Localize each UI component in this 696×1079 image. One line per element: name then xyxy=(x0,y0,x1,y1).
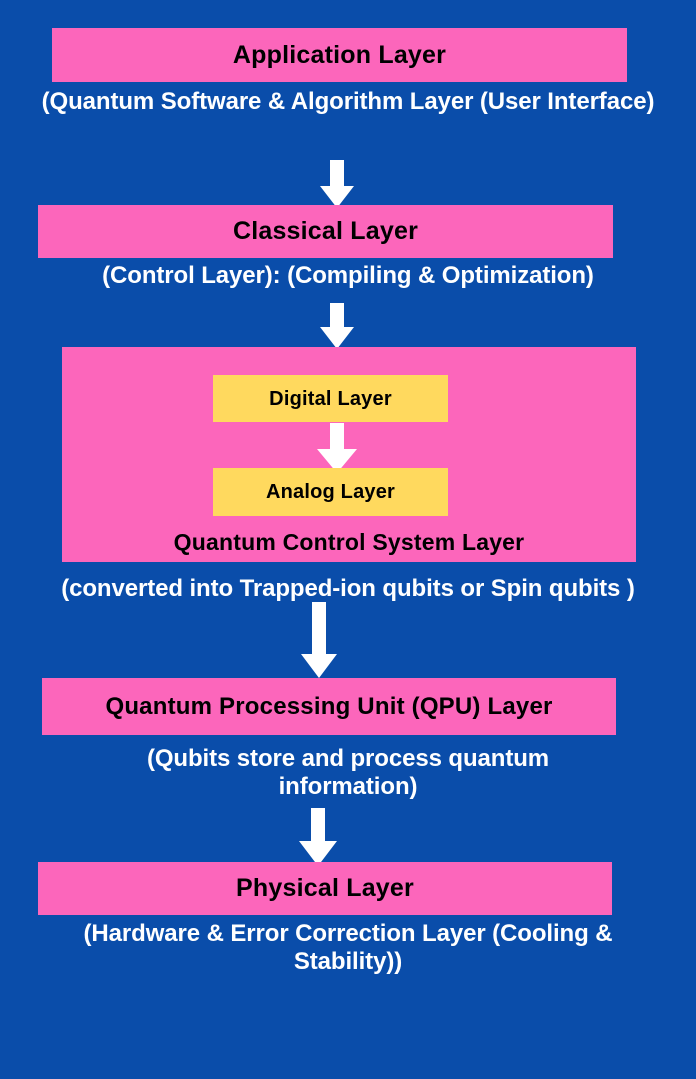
application-layer-caption: (Quantum Software & Algorithm Layer (Use… xyxy=(34,88,662,116)
physical-layer-caption: (Hardware & Error Correction Layer (Cool… xyxy=(54,920,642,977)
analog-layer-title: Analog Layer xyxy=(266,482,395,502)
quantum-control-system-layer-title: Quantum Control System Layer xyxy=(62,531,636,554)
qpu-layer-title: Quantum Processing Unit (QPU) Layer xyxy=(105,695,552,719)
digital-layer-title: Digital Layer xyxy=(269,389,392,409)
classical-layer-box[interactable]: Classical Layer xyxy=(38,205,613,258)
application-layer-box[interactable]: Application Layer xyxy=(52,28,627,82)
quantum-stack-diagram: Application Layer (Quantum Software & Al… xyxy=(0,0,696,1079)
arrow-down-digital-to-analog xyxy=(317,423,357,473)
analog-layer-box[interactable]: Analog Layer xyxy=(213,468,448,516)
digital-layer-box[interactable]: Digital Layer xyxy=(213,375,448,422)
qpu-layer-box[interactable]: Quantum Processing Unit (QPU) Layer xyxy=(42,678,616,735)
arrow-down-qpu-to-physical xyxy=(299,808,337,866)
classical-layer-caption: (Control Layer): (Compiling & Optimizati… xyxy=(14,262,682,290)
physical-layer-box[interactable]: Physical Layer xyxy=(38,862,612,915)
arrow-down-classical-to-control-system xyxy=(320,303,354,349)
arrow-down-application-to-classical xyxy=(320,160,354,208)
arrow-down-control-system-to-qpu xyxy=(301,602,337,678)
qpu-layer-caption: (Qubits store and process quantum inform… xyxy=(84,745,612,802)
quantum-control-system-layer-caption: (converted into Trapped-ion qubits or Sp… xyxy=(0,575,696,603)
physical-layer-title: Physical Layer xyxy=(236,876,414,901)
application-layer-title: Application Layer xyxy=(233,43,446,68)
classical-layer-title: Classical Layer xyxy=(233,219,418,244)
